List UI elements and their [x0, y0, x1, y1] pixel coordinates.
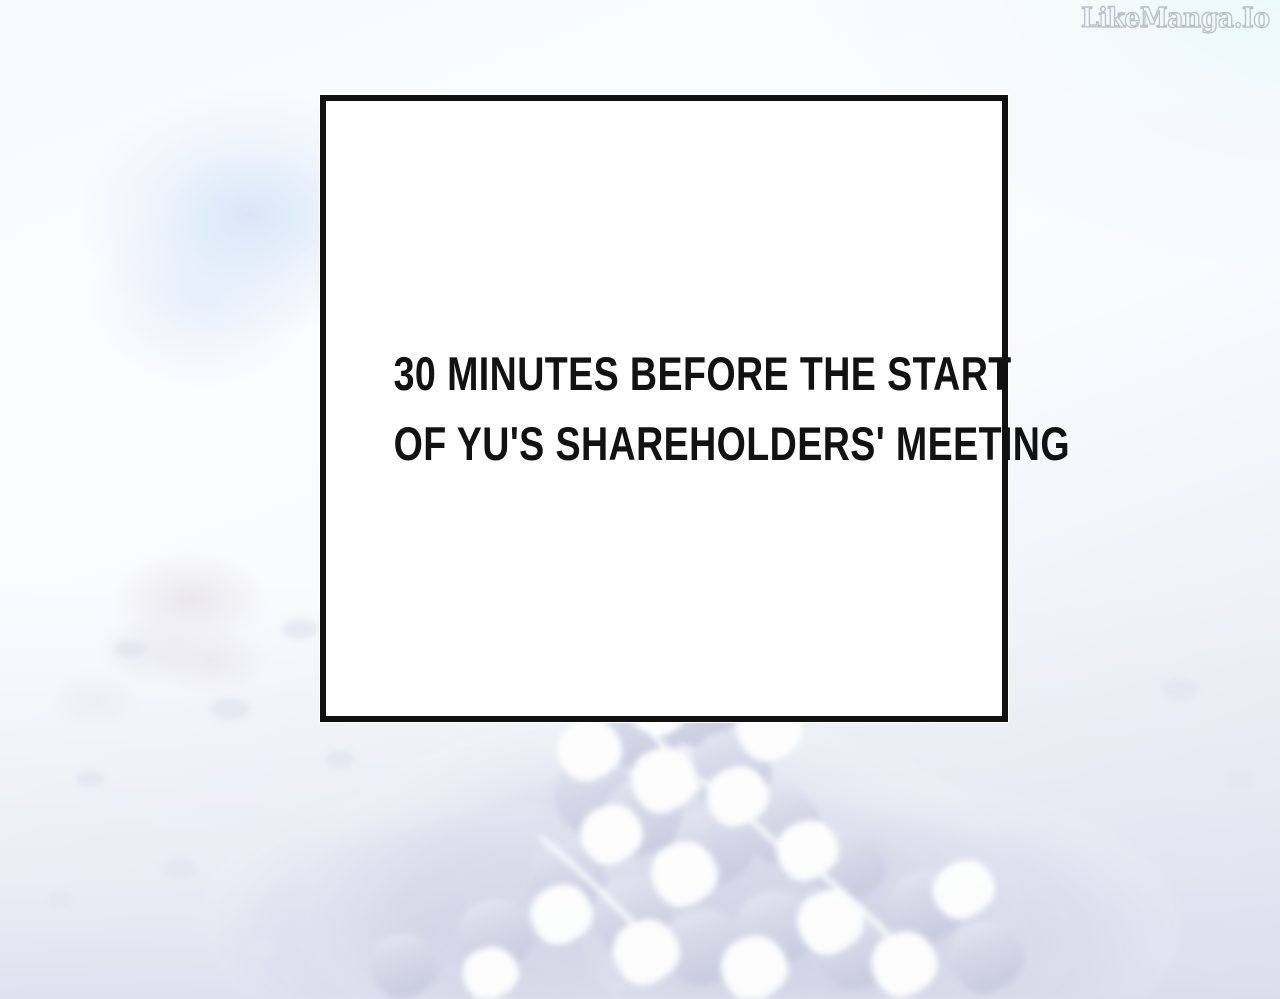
page-root: 30 MINUTES BEFORE THE START OF YU'S SHAR… — [0, 0, 1280, 999]
panel-caption-text: 30 MINUTES BEFORE THE START OF YU'S SHAR… — [394, 339, 935, 479]
site-watermark: LikeManga.Io — [1082, 3, 1270, 34]
caption-panel: 30 MINUTES BEFORE THE START OF YU'S SHAR… — [320, 95, 1008, 722]
caption-line-2: OF YU'S SHAREHOLDERS' MEETING — [394, 409, 935, 479]
caption-line-1: 30 MINUTES BEFORE THE START — [394, 339, 935, 409]
